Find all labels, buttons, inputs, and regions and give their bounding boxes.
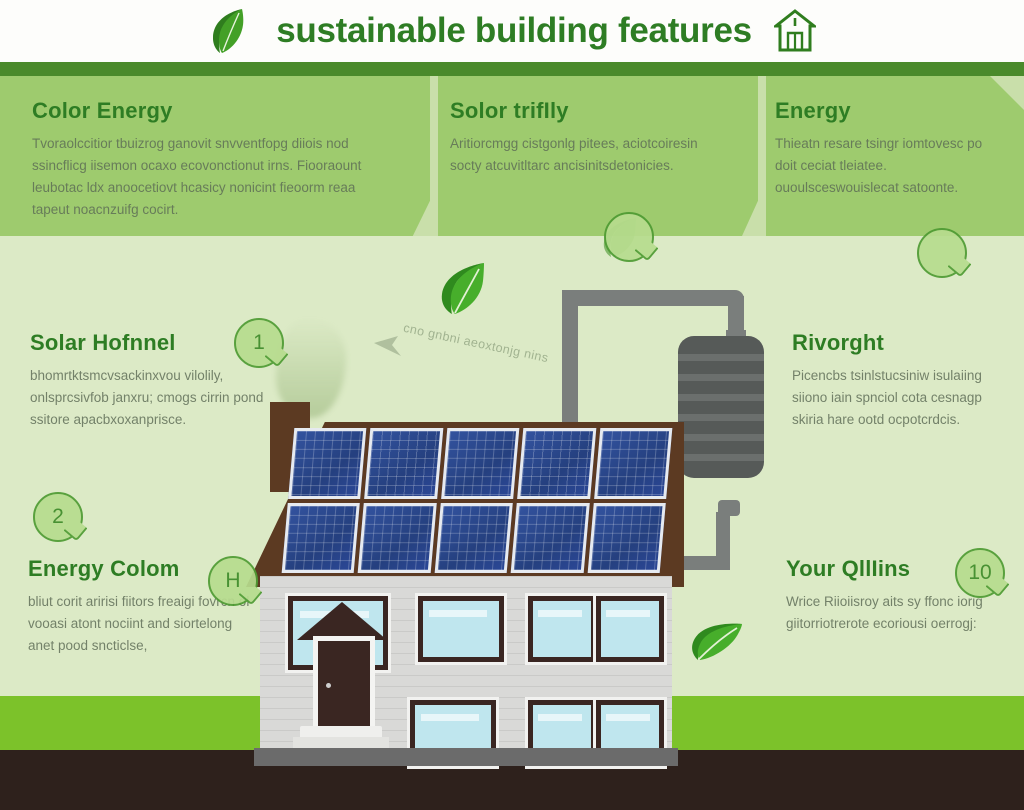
tank-band xyxy=(678,434,764,441)
window-upper xyxy=(418,596,504,662)
section-color-energy: Color Energy Tvoraolccitior tbuizrog gan… xyxy=(32,98,387,220)
front-steps xyxy=(300,726,382,748)
house-illustration xyxy=(240,380,690,780)
solar-panel xyxy=(288,428,367,499)
badge-2[interactable]: 2 xyxy=(33,492,83,542)
header-divider xyxy=(0,62,1024,76)
badge-leaf[interactable] xyxy=(604,212,654,262)
section-heading: Solor trifIly xyxy=(450,98,710,124)
badge-3[interactable]: H xyxy=(208,556,258,606)
infographic-canvas: sustainable building features Color Ener… xyxy=(0,0,1024,810)
leaf-icon xyxy=(684,614,746,669)
section-body: Thieatn resare tsingr iomtovesc po doit … xyxy=(775,133,1000,199)
solar-panel xyxy=(282,503,361,574)
leaf-icon xyxy=(432,258,494,323)
section-rivorght: Rivorght Picencbs tsinlstucsiniw isulaii… xyxy=(792,330,1017,431)
house-icon xyxy=(774,9,816,53)
badge-label: 10 xyxy=(968,561,991,585)
solar-panel xyxy=(441,428,520,499)
badge-4[interactable]: 10 xyxy=(955,548,1005,598)
solar-panel xyxy=(365,428,444,499)
tank-band xyxy=(678,354,764,361)
page-title: sustainable building features xyxy=(276,11,752,51)
pipe-horizontal-top xyxy=(562,290,744,306)
arrow-left-icon xyxy=(372,334,406,360)
section-body: Tvoraolccitior tbuizrog ganovit snvventf… xyxy=(32,133,387,220)
section-solor-trifly: Solor trifIly Aritiorcmgg cistgonlg pite… xyxy=(450,98,710,177)
badge-leaf-right[interactable] xyxy=(917,228,967,278)
leaf-icon xyxy=(208,6,254,56)
arrow-callout: cno gnbni aeoxtonjg nins xyxy=(372,330,552,380)
badge-label: 2 xyxy=(52,505,64,529)
section-heading: Color Energy xyxy=(32,98,387,124)
front-door[interactable] xyxy=(313,636,375,736)
solar-panel xyxy=(434,503,513,574)
foundation xyxy=(254,748,678,766)
solar-panel xyxy=(511,503,590,574)
section-heading: Solar Hofnnel xyxy=(30,330,265,356)
section-heading: Rivorght xyxy=(792,330,1017,356)
solar-panel xyxy=(517,428,596,499)
section-heading: Energy xyxy=(775,98,1000,124)
solar-panel-array xyxy=(282,428,673,573)
section-body: Picencbs tsinlstucsiniw isulaiing siiono… xyxy=(792,365,1017,431)
tank-band xyxy=(678,414,764,421)
tank-band xyxy=(678,394,764,401)
section-energy-top: Energy Thieatn resare tsingr iomtovesc p… xyxy=(775,98,1000,199)
door-awning xyxy=(297,602,387,640)
tank-band xyxy=(678,374,764,381)
section-solar-hofnnel: Solar Hofnnel bhomrtktsmcvsackinxvou vil… xyxy=(30,330,265,431)
section-body: bhomrtktsmcvsackinxvou vilolily, onlsprc… xyxy=(30,365,265,431)
solar-panel xyxy=(594,428,673,499)
section-body: Aritiorcmgg cistgonlg pitees, aciotcoire… xyxy=(450,133,710,177)
window-upper xyxy=(596,596,664,662)
badge-1[interactable]: 1 xyxy=(234,318,284,368)
tank-band xyxy=(678,454,764,461)
water-tank xyxy=(678,336,764,478)
solar-panel xyxy=(358,503,437,574)
door-knob xyxy=(326,683,331,688)
page-header: sustainable building features xyxy=(0,0,1024,62)
badge-label: H xyxy=(225,569,240,593)
solar-panel xyxy=(587,503,666,574)
badge-label: 1 xyxy=(253,331,265,355)
window-upper xyxy=(528,596,596,662)
